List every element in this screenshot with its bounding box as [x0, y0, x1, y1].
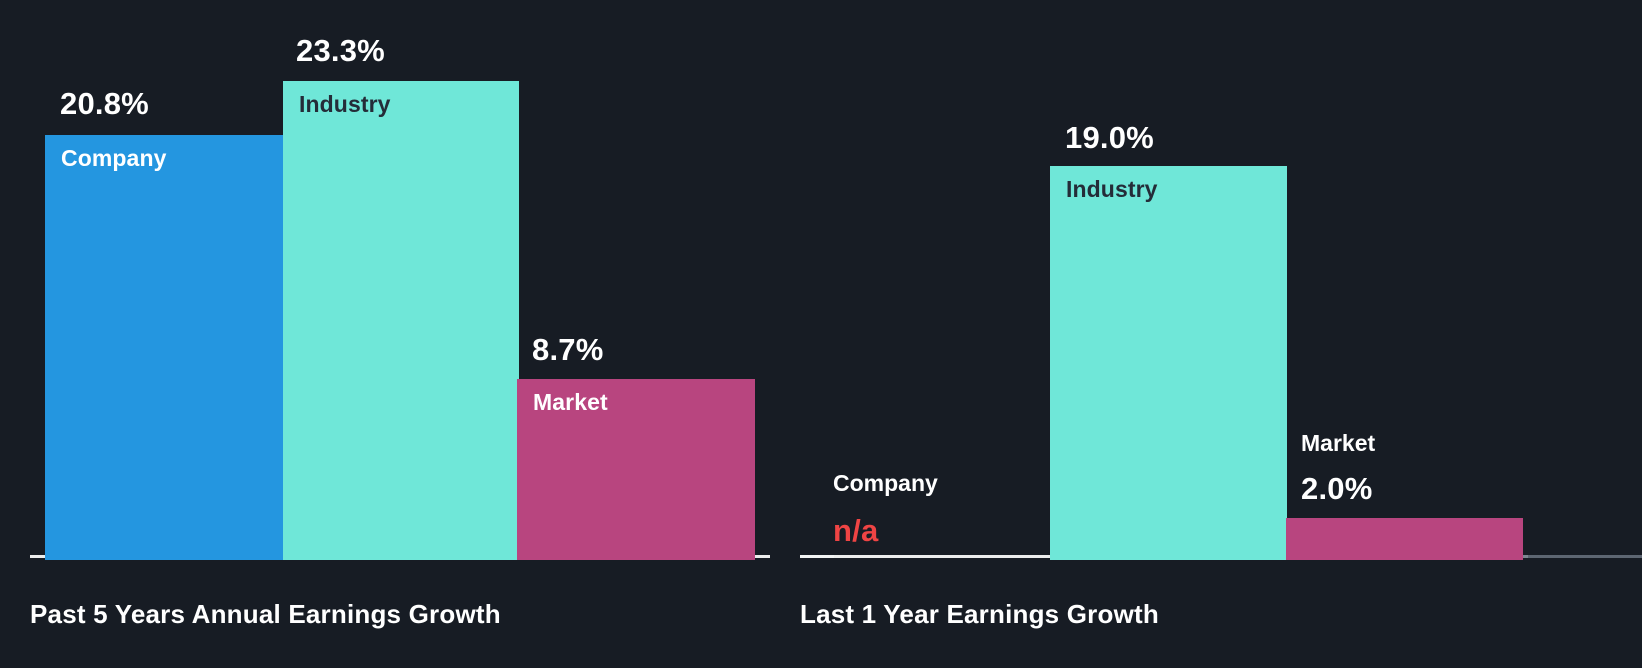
bar-market[interactable] — [1286, 518, 1523, 560]
earnings-growth-figure: Company 20.8% Industry 23.3% Market 8.7%… — [0, 0, 1642, 668]
bar-value-company: 20.8% — [60, 86, 149, 122]
plot-area-last-1-year: Company n/a Industry 19.0% Market 2.0% — [800, 0, 1642, 560]
bar-label-market: Market — [1301, 430, 1375, 457]
bar-industry[interactable]: Industry — [1050, 166, 1287, 560]
bar-label-company: Company — [833, 470, 938, 497]
bar-label-industry: Industry — [299, 91, 391, 118]
bar-label-market: Market — [533, 389, 608, 416]
bar-value-industry: 19.0% — [1065, 120, 1154, 156]
chart-title-past-5-years: Past 5 Years Annual Earnings Growth — [30, 599, 501, 630]
bar-industry[interactable]: Industry — [283, 81, 519, 560]
chart-title-last-1-year: Last 1 Year Earnings Growth — [800, 599, 1159, 630]
bar-value-company-na: n/a — [833, 513, 878, 549]
chart-panel-past-5-years: Company 20.8% Industry 23.3% Market 8.7%… — [0, 0, 800, 668]
bar-company[interactable]: Company — [45, 135, 283, 560]
bar-value-industry: 23.3% — [296, 33, 385, 69]
axis-baseline-tail — [1522, 555, 1642, 558]
chart-panel-last-1-year: Company n/a Industry 19.0% Market 2.0% L… — [800, 0, 1642, 668]
bar-label-industry: Industry — [1066, 176, 1158, 203]
bar-market[interactable]: Market — [517, 379, 755, 560]
bar-label-company: Company — [61, 145, 167, 172]
bar-value-market: 2.0% — [1301, 471, 1372, 507]
plot-area-past-5-years: Company 20.8% Industry 23.3% Market 8.7% — [0, 0, 800, 560]
bar-value-market: 8.7% — [532, 332, 603, 368]
